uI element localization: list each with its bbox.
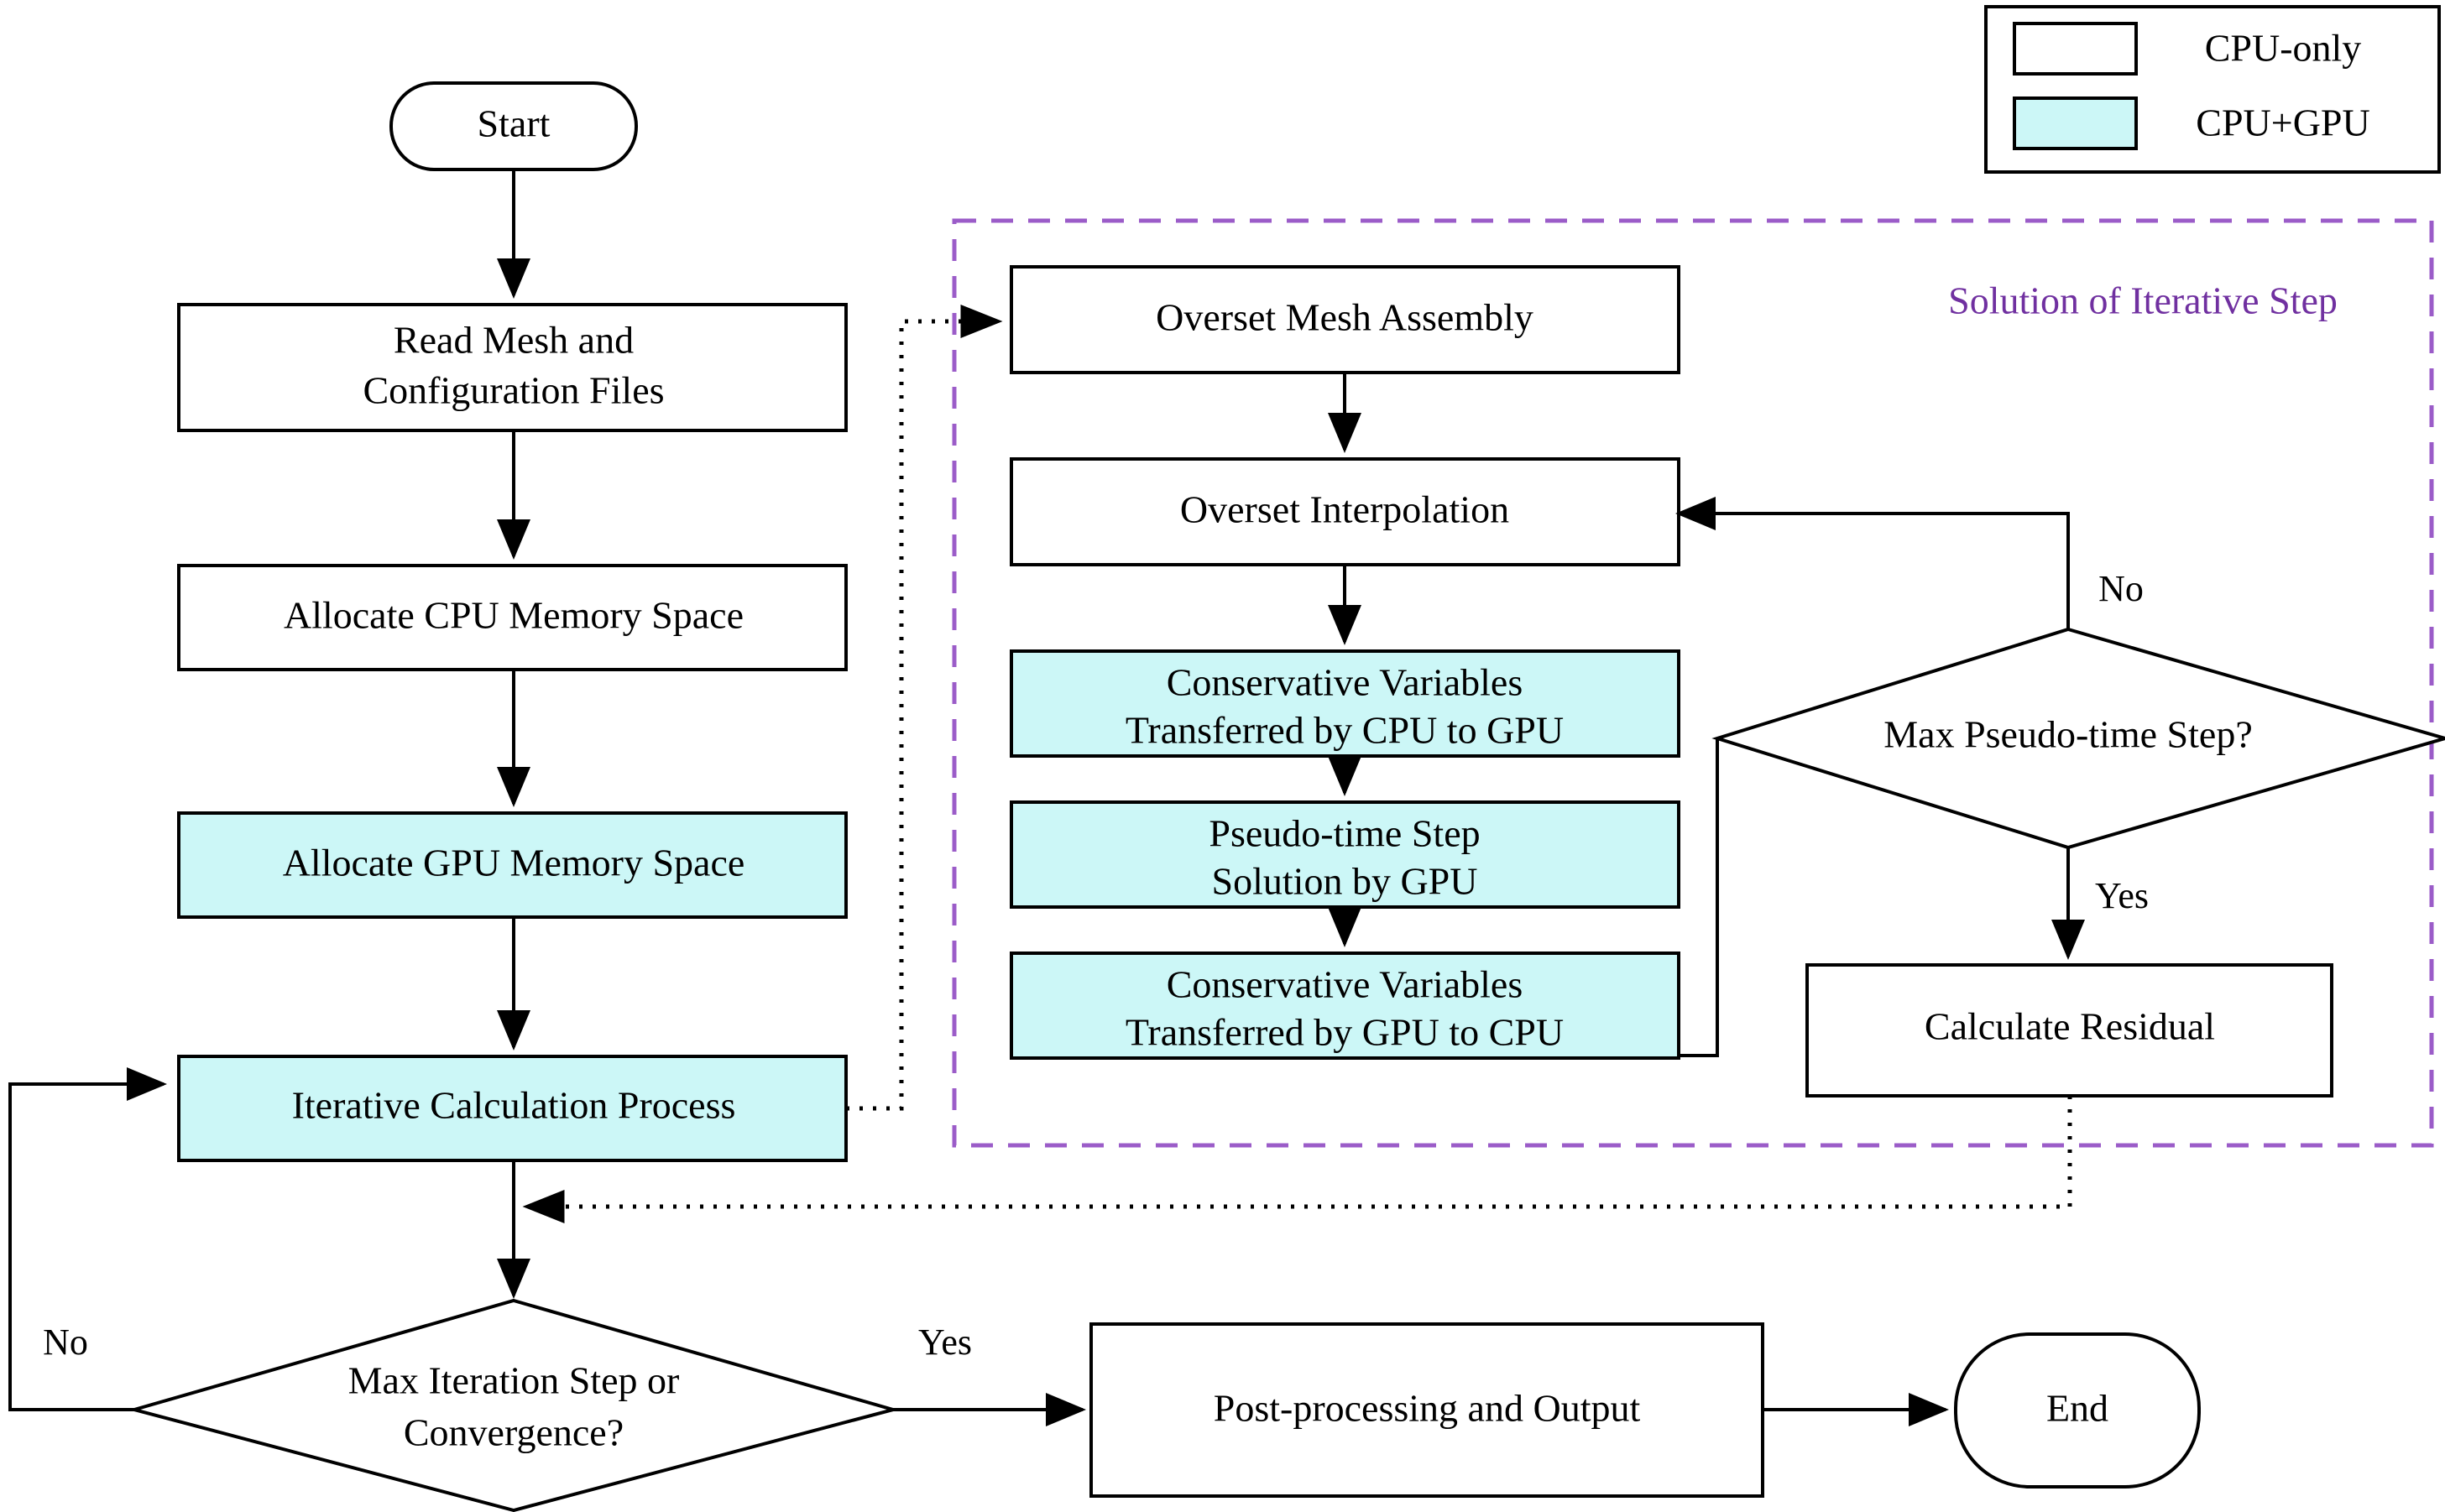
node-read-mesh-label-line2: Configuration Files xyxy=(363,369,664,412)
node-pseudo-time-step-solution-label-line2: Solution by GPU xyxy=(1212,860,1478,903)
node-overset-mesh-assembly-label: Overset Mesh Assembly xyxy=(1156,296,1533,339)
node-pseudo-time-step-solution-label-line1: Pseudo-time Step xyxy=(1209,812,1480,855)
node-max-iteration-label-line2: Convergence? xyxy=(404,1411,624,1454)
legend-label-cpu-gpu: CPU+GPU xyxy=(2196,102,2369,144)
edge-gpu-to-cpu-to-max-pseudo xyxy=(1679,738,1717,1056)
node-start-label: Start xyxy=(478,102,551,145)
node-end-label: End xyxy=(2046,1387,2108,1430)
flowchart-canvas: Solution of Iterative Step CPU-only CPU+… xyxy=(0,0,2445,1512)
node-allocate-cpu-memory-label: Allocate CPU Memory Space xyxy=(284,594,744,637)
node-max-iteration-label-line1: Max Iteration Step or xyxy=(348,1359,680,1402)
node-transfer-cpu-to-gpu-label-line2: Transferred by CPU to GPU xyxy=(1126,709,1564,752)
legend-label-cpu-only: CPU-only xyxy=(2205,27,2362,70)
node-overset-interpolation-label: Overset Interpolation xyxy=(1180,488,1509,531)
node-allocate-gpu-memory-label: Allocate GPU Memory Space xyxy=(283,842,745,884)
edge-max-pseudo-no-to-interpolation xyxy=(1679,514,2068,629)
edge-label-max-iteration-no: No xyxy=(43,1322,88,1363)
node-transfer-gpu-to-cpu-label-line2: Transferred by GPU to CPU xyxy=(1126,1011,1564,1054)
node-iterative-calculation-process-label: Iterative Calculation Process xyxy=(292,1084,736,1127)
legend-swatch-cpu-only xyxy=(2014,23,2136,74)
node-transfer-gpu-to-cpu-label-line1: Conservative Variables xyxy=(1167,963,1523,1006)
edge-label-max-pseudo-yes: Yes xyxy=(2095,875,2149,916)
legend-swatch-cpu-gpu xyxy=(2014,98,2136,149)
node-max-iteration-decision[interactable] xyxy=(134,1301,893,1510)
group-label-solution-of-iterative-step: Solution of Iterative Step xyxy=(1948,279,2338,322)
edge-label-max-iteration-yes: Yes xyxy=(918,1322,972,1363)
edge-label-max-pseudo-no: No xyxy=(2098,568,2144,609)
node-post-processing-output-label: Post-processing and Output xyxy=(1214,1387,1641,1430)
edge-iterative-to-overset-assembly xyxy=(846,321,996,1108)
node-calculate-residual-label: Calculate Residual xyxy=(1925,1005,2215,1048)
node-transfer-cpu-to-gpu-label-line1: Conservative Variables xyxy=(1167,661,1523,704)
flowchart-svg: Solution of Iterative Step CPU-only CPU+… xyxy=(0,0,2445,1512)
node-max-pseudo-time-step-label: Max Pseudo-time Step? xyxy=(1883,713,2253,756)
node-read-mesh-label-line1: Read Mesh and xyxy=(394,319,634,362)
